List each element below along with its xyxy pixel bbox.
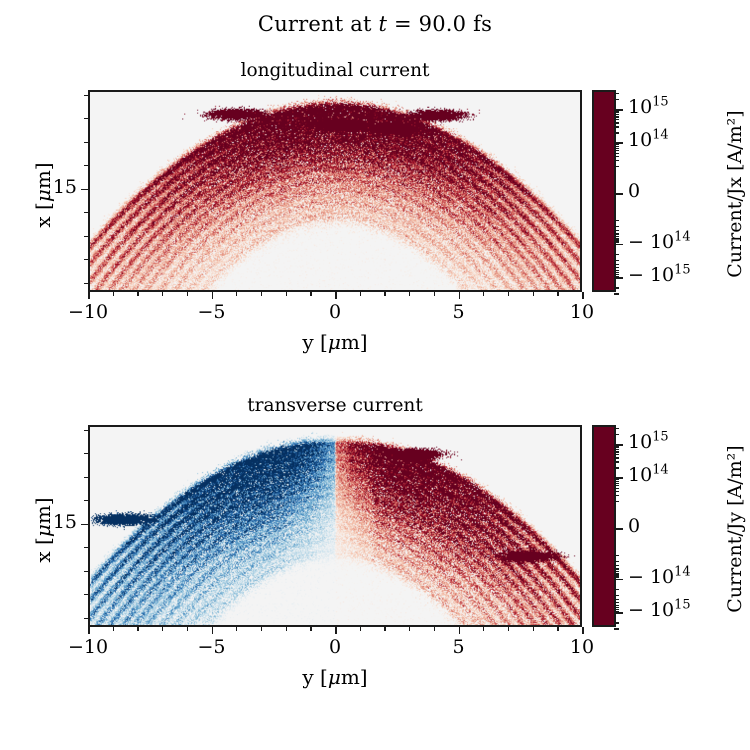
x-minor-tick bbox=[508, 627, 509, 631]
y-major-tick bbox=[81, 189, 88, 191]
colorbar-major-tick bbox=[614, 528, 623, 530]
panel-transverse-current: transverse current bbox=[88, 425, 582, 627]
y-minor-tick bbox=[84, 95, 88, 96]
x-minor-tick bbox=[483, 292, 484, 296]
colorbar-minor-tick bbox=[614, 153, 619, 154]
x-minor-tick bbox=[384, 627, 385, 631]
colorbar-minor-tick bbox=[614, 99, 619, 100]
colorbar-minor-tick bbox=[614, 481, 619, 482]
colorbar-tick-label: 1014 bbox=[628, 464, 669, 486]
y-minor-tick bbox=[84, 430, 88, 431]
x-minor-tick bbox=[286, 292, 287, 296]
colorbar-transverse[interactable]: 101510140− 1014− 1015 bbox=[592, 425, 616, 627]
colorbar-minor-tick bbox=[614, 267, 619, 268]
plot-area-longitudinal[interactable] bbox=[88, 90, 582, 292]
colorbar-tick-label: 0 bbox=[628, 515, 640, 537]
x-minor-tick bbox=[533, 292, 534, 296]
x-minor-tick bbox=[261, 627, 262, 631]
x-minor-tick bbox=[557, 292, 558, 296]
colorbar-minor-tick bbox=[614, 156, 619, 157]
colorbar-minor-tick bbox=[614, 110, 619, 111]
x-major-tick bbox=[212, 627, 214, 634]
colorbar-minor-tick bbox=[614, 144, 619, 145]
y-minor-tick bbox=[84, 571, 88, 572]
colorbar-minor-tick bbox=[614, 220, 619, 221]
colorbar-minor-tick bbox=[614, 226, 619, 227]
colorbar-label-transverse: Current/Jy [A/m²] bbox=[724, 439, 746, 619]
colorbar-minor-tick bbox=[614, 555, 619, 556]
x-tick-label: −5 bbox=[177, 301, 247, 323]
x-tick-label: 5 bbox=[424, 301, 494, 323]
colorbar-minor-tick bbox=[614, 595, 619, 596]
y-minor-tick bbox=[84, 547, 88, 548]
figure-canvas: Current at t = 90.0 fs longitudinal curr… bbox=[0, 0, 750, 750]
colorbar-minor-tick bbox=[614, 488, 619, 489]
colorbar-minor-tick bbox=[614, 599, 619, 600]
colorbar-minor-tick bbox=[614, 571, 619, 572]
colorbar-minor-tick bbox=[614, 112, 619, 113]
colorbar-minor-tick bbox=[614, 114, 619, 115]
x-minor-tick bbox=[533, 627, 534, 631]
colorbar-minor-tick bbox=[614, 622, 619, 623]
colorbar-minor-tick bbox=[614, 467, 619, 468]
x-major-tick bbox=[212, 292, 214, 299]
x-tick-label: 0 bbox=[300, 636, 370, 658]
x-minor-tick bbox=[434, 292, 435, 296]
colorbar-minor-tick bbox=[614, 119, 619, 120]
colorbar-major-tick bbox=[614, 277, 623, 279]
x-minor-tick bbox=[187, 292, 188, 296]
x-minor-tick bbox=[162, 627, 163, 631]
colorbar-major-tick bbox=[614, 193, 623, 195]
y-minor-tick bbox=[84, 165, 88, 166]
plot-area-transverse[interactable] bbox=[88, 425, 582, 627]
scatter-canvas-transverse bbox=[90, 427, 580, 625]
x-minor-tick bbox=[236, 292, 237, 296]
colorbar-minor-tick bbox=[614, 264, 619, 265]
colorbar-minor-tick bbox=[614, 501, 619, 502]
x-major-tick bbox=[88, 627, 90, 634]
colorbar-minor-tick bbox=[614, 160, 619, 161]
y-minor-tick bbox=[84, 259, 88, 260]
y-minor-tick bbox=[84, 283, 88, 284]
colorbar-minor-tick bbox=[614, 461, 619, 462]
x-tick-label: 10 bbox=[547, 636, 617, 658]
panel-longitudinal-current: longitudinal current bbox=[88, 90, 582, 292]
suptitle-suffix: = 90.0 fs bbox=[387, 12, 492, 36]
x-minor-tick bbox=[409, 292, 410, 296]
colorbar-tick-label: − 1015 bbox=[628, 264, 691, 286]
colorbar-minor-tick bbox=[614, 254, 619, 255]
colorbar-major-tick bbox=[614, 109, 623, 111]
colorbar-minor-tick bbox=[614, 116, 619, 117]
colorbar-minor-tick bbox=[614, 122, 619, 123]
x-axis-label: y [μm] bbox=[88, 330, 582, 354]
x-minor-tick bbox=[557, 627, 558, 631]
colorbar-major-tick bbox=[614, 244, 623, 246]
colorbar-gradient-longitudinal bbox=[594, 92, 614, 290]
colorbar-minor-tick bbox=[614, 485, 619, 486]
x-tick-label: 0 bbox=[300, 301, 370, 323]
x-minor-tick bbox=[113, 627, 114, 631]
colorbar-minor-tick bbox=[614, 287, 619, 288]
colorbar-minor-tick bbox=[614, 260, 619, 261]
x-minor-tick bbox=[162, 292, 163, 296]
x-major-tick bbox=[459, 292, 461, 299]
x-minor-tick bbox=[483, 627, 484, 631]
colorbar-minor-tick bbox=[614, 93, 619, 94]
colorbar-minor-tick bbox=[614, 166, 619, 167]
figure-suptitle: Current at t = 90.0 fs bbox=[0, 12, 750, 36]
colorbar-major-tick bbox=[614, 142, 623, 144]
colorbar-minor-tick bbox=[614, 602, 619, 603]
x-axis-label: y [μm] bbox=[88, 665, 582, 689]
colorbar-tick-label: 1014 bbox=[628, 129, 669, 151]
colorbar-gradient-transverse bbox=[594, 427, 614, 625]
x-minor-tick bbox=[434, 627, 435, 631]
suptitle-prefix: Current at bbox=[258, 12, 379, 36]
colorbar-minor-tick bbox=[614, 565, 619, 566]
y-minor-tick bbox=[84, 477, 88, 478]
x-tick-label: 10 bbox=[547, 301, 617, 323]
x-tick-label: −5 bbox=[177, 636, 247, 658]
colorbar-tick-label: − 1014 bbox=[628, 231, 691, 253]
colorbar-minor-tick bbox=[614, 428, 619, 429]
colorbar-major-tick bbox=[614, 444, 623, 446]
colorbar-tick-label: 1015 bbox=[628, 96, 669, 118]
x-minor-tick bbox=[360, 292, 361, 296]
y-tick-label: 15 bbox=[53, 511, 77, 533]
colorbar-minor-tick bbox=[614, 126, 619, 127]
colorbar-minor-tick bbox=[614, 483, 619, 484]
colorbar-tick-label: − 1015 bbox=[628, 599, 691, 621]
colorbar-tick-label: − 1014 bbox=[628, 566, 691, 588]
panel-title-transverse: transverse current bbox=[88, 395, 582, 416]
colorbar-minor-tick bbox=[614, 495, 619, 496]
colorbar-minor-tick bbox=[614, 457, 619, 458]
x-major-tick bbox=[335, 292, 337, 299]
colorbar-minor-tick bbox=[614, 491, 619, 492]
y-minor-tick bbox=[84, 594, 88, 595]
colorbar-label-longitudinal: Current/Jx [A/m²] bbox=[724, 104, 746, 284]
ylabel-transverse: x [μm] bbox=[31, 475, 55, 585]
x-minor-tick bbox=[310, 292, 311, 296]
x-minor-tick bbox=[310, 627, 311, 631]
x-major-tick bbox=[582, 627, 584, 634]
panel-title-longitudinal: longitudinal current bbox=[88, 60, 582, 81]
x-tick-label: 5 bbox=[424, 636, 494, 658]
x-minor-tick bbox=[187, 627, 188, 631]
colorbar-minor-tick bbox=[614, 230, 619, 231]
x-minor-tick bbox=[236, 627, 237, 631]
x-minor-tick bbox=[508, 292, 509, 296]
y-minor-tick bbox=[84, 500, 88, 501]
x-minor-tick bbox=[286, 627, 287, 631]
colorbar-minor-tick bbox=[614, 236, 619, 237]
y-minor-tick bbox=[84, 618, 88, 619]
y-tick-label: 15 bbox=[53, 176, 77, 198]
y-minor-tick bbox=[84, 142, 88, 143]
colorbar-minor-tick bbox=[614, 628, 619, 629]
colorbar-minor-tick bbox=[614, 568, 619, 569]
colorbar-minor-tick bbox=[614, 479, 619, 480]
x-minor-tick bbox=[261, 292, 262, 296]
y-minor-tick bbox=[84, 236, 88, 237]
colorbar-minor-tick bbox=[614, 434, 619, 435]
x-minor-tick bbox=[113, 292, 114, 296]
colorbar-minor-tick bbox=[614, 293, 619, 294]
y-minor-tick bbox=[84, 212, 88, 213]
colorbar-tick-label: 0 bbox=[628, 180, 640, 202]
x-minor-tick bbox=[360, 627, 361, 631]
suptitle-variable: t bbox=[379, 12, 388, 36]
colorbar-tick-label: 1015 bbox=[628, 431, 669, 453]
colorbar-longitudinal[interactable]: 101510140− 1014− 1015 bbox=[592, 90, 616, 292]
colorbar-minor-tick bbox=[614, 589, 619, 590]
colorbar-minor-tick bbox=[614, 605, 619, 606]
colorbar-minor-tick bbox=[614, 148, 619, 149]
colorbar-minor-tick bbox=[614, 447, 619, 448]
y-major-tick bbox=[81, 524, 88, 526]
ylabel-longitudinal: x [μm] bbox=[31, 140, 55, 250]
y-minor-tick bbox=[84, 118, 88, 119]
x-tick-label: −10 bbox=[53, 301, 123, 323]
colorbar-minor-tick bbox=[614, 445, 619, 446]
colorbar-minor-tick bbox=[614, 146, 619, 147]
x-minor-tick bbox=[137, 627, 138, 631]
x-minor-tick bbox=[137, 292, 138, 296]
x-major-tick bbox=[88, 292, 90, 299]
x-major-tick bbox=[582, 292, 584, 299]
x-tick-label: −10 bbox=[53, 636, 123, 658]
colorbar-major-tick bbox=[614, 477, 623, 479]
x-minor-tick bbox=[409, 627, 410, 631]
y-minor-tick bbox=[84, 453, 88, 454]
x-minor-tick bbox=[384, 292, 385, 296]
colorbar-minor-tick bbox=[614, 454, 619, 455]
colorbar-minor-tick bbox=[614, 150, 619, 151]
colorbar-minor-tick bbox=[614, 233, 619, 234]
colorbar-minor-tick bbox=[614, 132, 619, 133]
scatter-canvas-longitudinal bbox=[90, 92, 580, 290]
colorbar-minor-tick bbox=[614, 270, 619, 271]
x-major-tick bbox=[459, 627, 461, 634]
colorbar-minor-tick bbox=[614, 449, 619, 450]
colorbar-minor-tick bbox=[614, 451, 619, 452]
x-major-tick bbox=[335, 627, 337, 634]
colorbar-major-tick bbox=[614, 612, 623, 614]
colorbar-major-tick bbox=[614, 579, 623, 581]
colorbar-minor-tick bbox=[614, 561, 619, 562]
